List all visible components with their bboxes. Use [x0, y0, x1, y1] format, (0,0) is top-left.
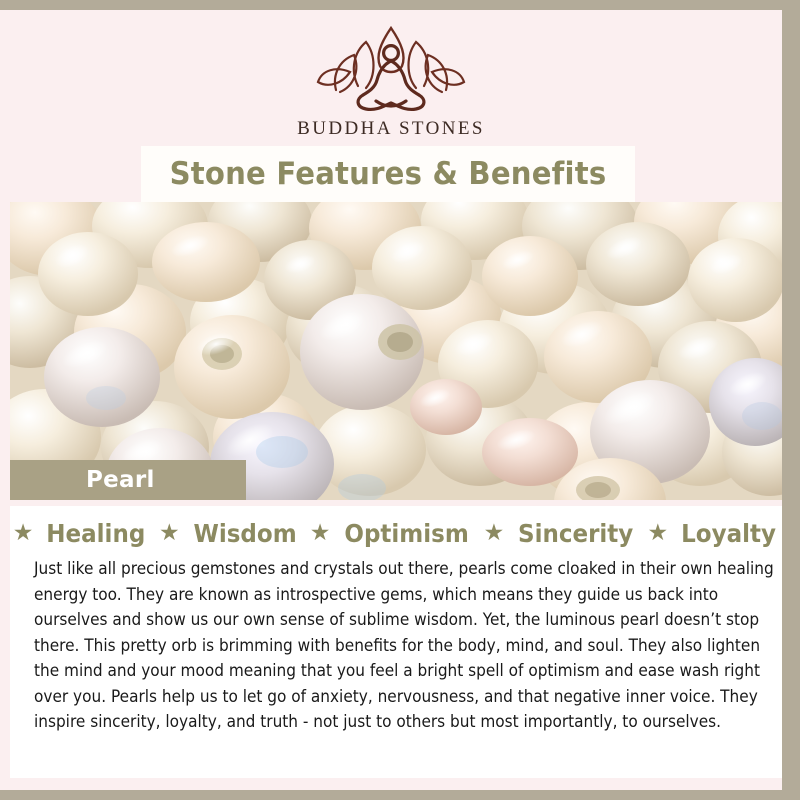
- benefit-keywords: ★ Healing ★ Wisdom ★ Optimism ★ Sincerit…: [10, 512, 782, 554]
- benefit-item-0: Healing: [43, 519, 149, 548]
- description-text: Just like all precious gemstones and cry…: [34, 556, 782, 735]
- benefit-item-3: Sincerity: [515, 519, 638, 548]
- benefit-item-4: Loyalty: [678, 519, 780, 548]
- description-panel: ★ Healing ★ Wisdom ★ Optimism ★ Sincerit…: [10, 506, 782, 778]
- title-banner: Stone Features & Benefits: [141, 146, 635, 202]
- brand-name: BUDDHA STONES: [297, 118, 485, 140]
- page-title: Stone Features & Benefits: [156, 146, 620, 202]
- star-icon: ★: [8, 521, 39, 544]
- stone-name-tab: Pearl: [10, 460, 246, 500]
- star-icon: ★: [305, 521, 336, 544]
- stone-photo: [10, 202, 782, 500]
- poster-card: BUDDHA STONES Stone Features & Benefits: [0, 10, 782, 790]
- lotus-meditation-icon: [306, 22, 476, 114]
- star-icon: ★: [643, 521, 674, 544]
- poster-frame: BUDDHA STONES Stone Features & Benefits: [0, 0, 800, 800]
- star-icon: ★: [479, 521, 510, 544]
- star-icon: ★: [154, 521, 185, 544]
- benefit-item-1: Wisdom: [189, 519, 300, 548]
- benefit-item-2: Optimism: [341, 519, 473, 548]
- brand-header: BUDDHA STONES: [0, 10, 782, 150]
- stone-name: Pearl: [86, 467, 155, 493]
